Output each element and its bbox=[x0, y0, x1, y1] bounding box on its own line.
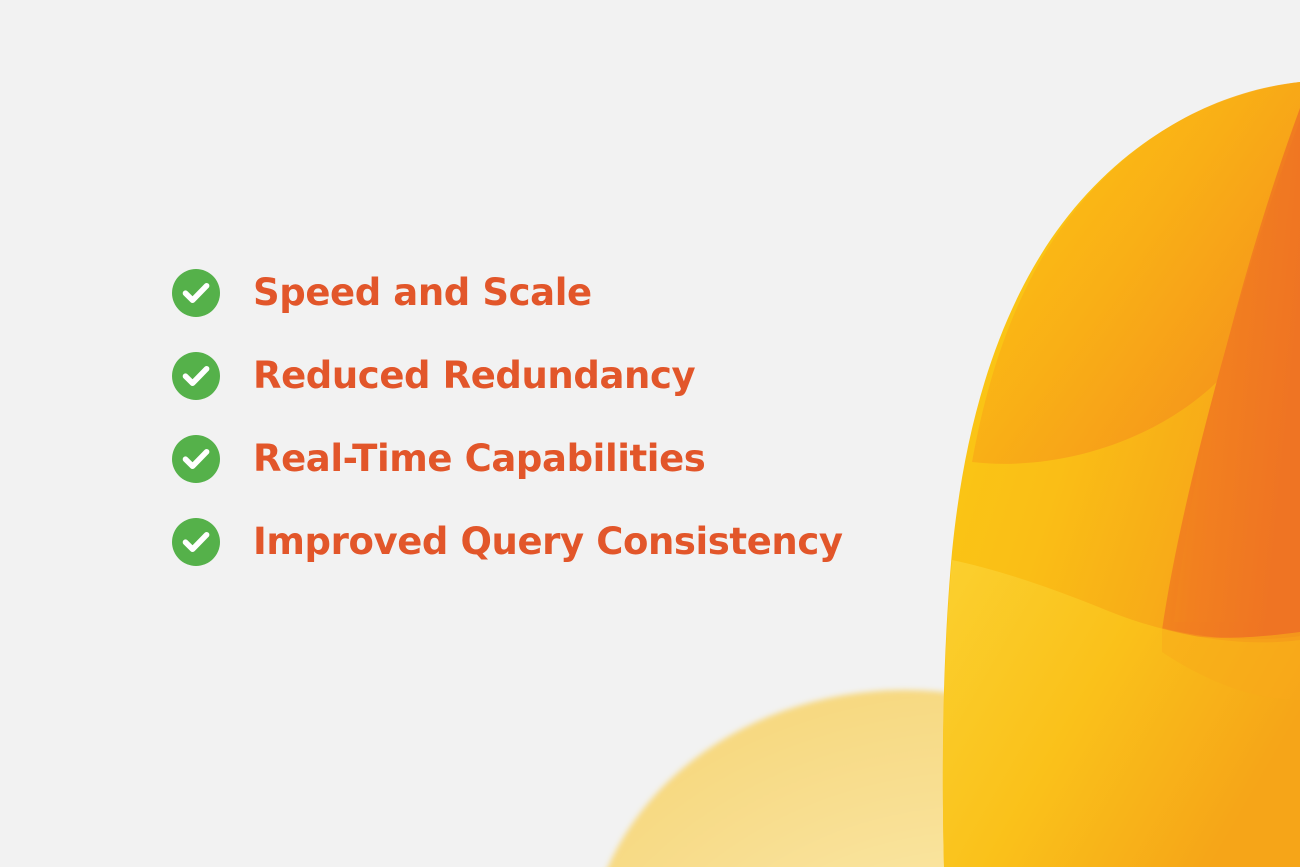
list-item-label: Real-Time Capabilities bbox=[253, 439, 705, 480]
list-item-label: Improved Query Consistency bbox=[253, 522, 843, 563]
pale-yellow-blob-shape bbox=[587, 690, 1223, 867]
list-item[interactable]: Real-Time Capabilities bbox=[172, 428, 872, 490]
slide-canvas: Speed and Scale Reduced Redundancy Real-… bbox=[0, 0, 1300, 867]
benefits-list: Speed and Scale Reduced Redundancy Real-… bbox=[172, 262, 872, 573]
ribbon-orange-fold-shape bbox=[1162, 108, 1300, 638]
list-item[interactable]: Improved Query Consistency bbox=[172, 511, 872, 573]
ribbon-crease-shape bbox=[1162, 628, 1300, 700]
ribbon-main-shape bbox=[943, 82, 1300, 867]
list-item[interactable]: Speed and Scale bbox=[172, 262, 872, 324]
list-item[interactable]: Reduced Redundancy bbox=[172, 345, 872, 407]
ribbon-upper-lobe-shape bbox=[972, 82, 1300, 464]
list-item-label: Reduced Redundancy bbox=[253, 356, 695, 397]
list-item-label: Speed and Scale bbox=[253, 273, 592, 314]
check-circle-icon bbox=[172, 518, 220, 566]
check-circle-icon bbox=[172, 435, 220, 483]
check-circle-icon bbox=[172, 269, 220, 317]
ribbon-lower-leg-shape bbox=[943, 560, 1300, 867]
check-circle-icon bbox=[172, 352, 220, 400]
